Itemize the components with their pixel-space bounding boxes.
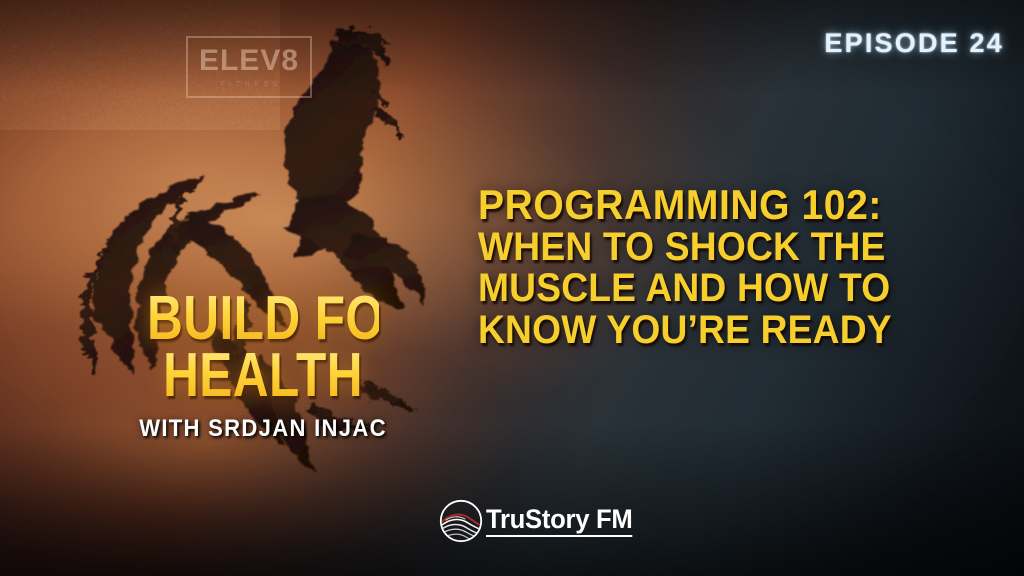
trustory-fm-logo: TruStory FM — [438, 498, 640, 544]
episode-title: PROGRAMMING 102: WHEN TO SHOCK THE MUSCL… — [478, 183, 1008, 351]
circle-wave-icon — [438, 498, 484, 544]
episode-title-line-4: KNOW YOU’RE READY — [478, 310, 971, 352]
show-host-line: WITH SRDJAN INJAC — [130, 415, 397, 443]
elev8-logo: ELEV8 FITNESS — [186, 36, 312, 98]
trustory-fm-wordmark: TruStory FM — [486, 505, 633, 537]
elev8-logo-wordmark: ELEV8 — [199, 46, 299, 76]
episode-cover-canvas: ELEV8 FITNESS EPISODE 24 PROGRAMMING 102… — [0, 0, 1024, 576]
elev8-logo-subtext: FITNESS — [216, 81, 282, 88]
show-title-line-1: BUILD FOR — [147, 292, 379, 347]
episode-number-badge: EPISODE 24 — [824, 28, 1004, 59]
show-title-line-2: HEALTH — [147, 349, 379, 404]
show-title-block: BUILD FOR HEALTH WITH SRDJAN INJAC — [118, 292, 408, 443]
episode-title-line-1: PROGRAMMING 102: — [478, 183, 971, 227]
episode-title-line-2: WHEN TO SHOCK THE — [478, 227, 971, 269]
episode-title-line-3: MUSCLE AND HOW TO — [478, 268, 971, 310]
